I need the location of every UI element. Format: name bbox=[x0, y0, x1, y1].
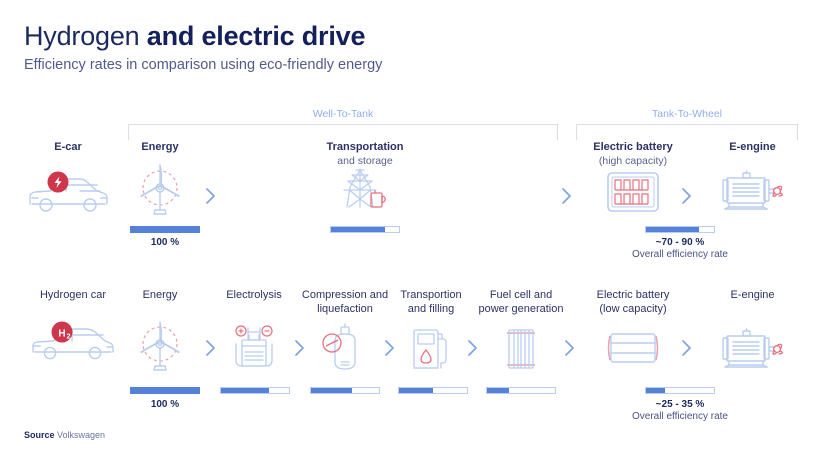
bar-fill bbox=[311, 388, 352, 393]
chevron-right-icon bbox=[383, 338, 397, 358]
battery-low-capacity-icon bbox=[603, 326, 663, 370]
chevron-right-icon bbox=[204, 186, 218, 206]
page-title-bold: and electric drive bbox=[147, 21, 366, 51]
bar-ecar-overall bbox=[645, 226, 715, 233]
hydrogen-car-icon: H 2 bbox=[23, 318, 123, 366]
bar-caption-ecar-energy: 100 % bbox=[120, 237, 210, 248]
electric-motor-icon bbox=[717, 166, 787, 216]
infographic-canvas: Hydrogen and electric drive Efficiency r… bbox=[0, 0, 820, 461]
gas-cylinder-icon bbox=[315, 322, 375, 374]
electric-motor-icon bbox=[717, 324, 787, 374]
bracket-tank-to-wheel: Tank-To-Wheel bbox=[576, 124, 798, 140]
bracket-tick-right bbox=[797, 124, 798, 140]
bar-h2-transport bbox=[398, 387, 468, 394]
bracket-line bbox=[128, 124, 558, 125]
bar-h2-compression bbox=[310, 387, 380, 394]
electrolyzer-icon bbox=[228, 322, 280, 374]
bar-fill bbox=[646, 227, 699, 232]
bar-fill bbox=[131, 388, 199, 393]
bar-fill bbox=[331, 227, 385, 232]
bar-fill bbox=[399, 388, 433, 393]
page-title: Hydrogen and electric drive bbox=[24, 20, 365, 52]
step-h2-energy: Energy bbox=[125, 288, 195, 302]
bracket-line bbox=[576, 124, 798, 125]
bracket-well-to-tank: Well-To-Tank bbox=[128, 124, 558, 140]
row-hydrogen-vehicle-label: Hydrogen car bbox=[18, 288, 128, 302]
svg-text:H: H bbox=[58, 328, 65, 339]
step-h2-compression: Compression and liquefaction bbox=[295, 288, 395, 316]
power-pylon-icon bbox=[335, 163, 395, 218]
chevron-right-icon bbox=[466, 338, 480, 358]
bar-caption-ecar-overall: ~70 - 90 % Overall efficiency rate bbox=[625, 237, 735, 260]
chevron-right-icon bbox=[680, 338, 694, 358]
bar-fill bbox=[487, 388, 509, 393]
bar-h2-fuelcell bbox=[486, 387, 556, 394]
bar-h2-overall bbox=[645, 387, 715, 394]
step-h2-battery: Electric battery (low capacity) bbox=[578, 288, 688, 316]
step-h2-fuelcell: Fuel cell and power generation bbox=[466, 288, 576, 316]
step-h2-transport: Transportion and filling bbox=[385, 288, 477, 316]
bar-fill bbox=[646, 388, 665, 393]
fuel-cell-stack-icon bbox=[497, 322, 545, 374]
bar-fill bbox=[221, 388, 269, 393]
source-label: Source bbox=[24, 430, 55, 440]
wind-turbine-icon bbox=[130, 318, 190, 376]
fuel-pump-icon bbox=[405, 322, 457, 374]
bar-h2-electrolysis bbox=[220, 387, 290, 394]
wind-turbine-icon bbox=[130, 160, 190, 218]
source-credit: Source Volkswagen bbox=[24, 430, 105, 440]
chevron-right-icon bbox=[680, 186, 694, 206]
row-ecar-vehicle-label: E-car bbox=[18, 140, 118, 154]
svg-text:2: 2 bbox=[67, 333, 71, 340]
chevron-right-icon bbox=[560, 186, 574, 206]
step-ecar-battery: Electric battery (high capacity) bbox=[578, 140, 688, 168]
chevron-right-icon bbox=[293, 338, 307, 358]
step-ecar-engine: E-engine bbox=[705, 140, 800, 154]
bracket-tick-right bbox=[557, 124, 558, 140]
page-title-light: Hydrogen bbox=[24, 21, 147, 51]
step-h2-engine: E-engine bbox=[705, 288, 800, 302]
chevron-right-icon bbox=[563, 338, 577, 358]
bar-ecar-transportation bbox=[330, 226, 400, 233]
chevron-right-icon bbox=[204, 338, 218, 358]
bracket-label-tank-to-wheel: Tank-To-Wheel bbox=[576, 108, 798, 120]
bar-caption-h2-overall: ~25 - 35 % Overall efficiency rate bbox=[625, 399, 735, 422]
battery-high-capacity-icon bbox=[603, 168, 663, 216]
e-car-icon bbox=[18, 160, 118, 220]
bar-ecar-energy bbox=[130, 226, 200, 233]
bar-h2-energy bbox=[130, 387, 200, 394]
bracket-tick-left bbox=[128, 124, 129, 140]
bracket-label-well-to-tank: Well-To-Tank bbox=[128, 108, 558, 120]
page-subtitle: Efficiency rates in comparison using eco… bbox=[24, 57, 382, 73]
bar-fill bbox=[131, 227, 199, 232]
step-h2-electrolysis: Electrolysis bbox=[213, 288, 295, 302]
source-value: Volkswagen bbox=[57, 430, 105, 440]
bracket-tick-left bbox=[576, 124, 577, 140]
step-ecar-energy: Energy bbox=[120, 140, 200, 154]
bar-caption-h2-energy: 100 % bbox=[120, 399, 210, 410]
